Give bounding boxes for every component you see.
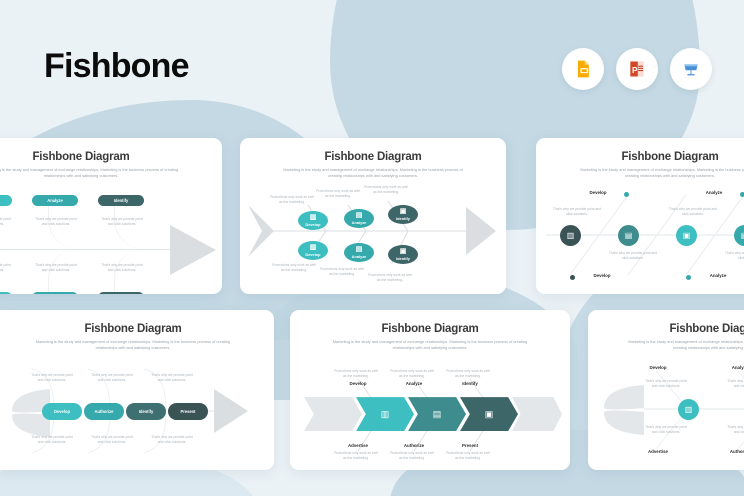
node-note: Promotions only work as well as the mark… (364, 185, 408, 195)
presentation-icon: ▣ (485, 409, 494, 420)
node-label: Analyze (47, 198, 62, 203)
node-label: Analyze (694, 273, 742, 278)
node-ellipse[interactable]: ▥ Develop (298, 211, 328, 230)
node-circle[interactable]: ▥ (678, 399, 699, 420)
fish-head-arrow (168, 223, 218, 277)
node-label: Identify (114, 198, 129, 203)
node-ellipse[interactable]: ▥ Develop (298, 241, 328, 260)
node-note: Promotions only work as well as the mark… (390, 369, 434, 379)
node-note: That's why we provide point and click so… (34, 217, 78, 227)
node-label: Identify (446, 381, 494, 386)
slide-title: Fishbone Diagram (588, 323, 744, 335)
presentation-icon: ▣ (683, 231, 691, 240)
node-note: Promotions only work as well as the mark… (272, 263, 316, 273)
google-slides-icon[interactable] (562, 48, 604, 90)
slide-title: Fishbone Diagram (0, 151, 222, 163)
presentation-icon: ▣ (400, 248, 407, 255)
node-note: Promotions only work as well as the mark… (334, 369, 378, 379)
bar-chart-icon: ▥ (310, 244, 317, 251)
node-ellipse[interactable]: ▣ Identify (388, 205, 418, 224)
node-label: Develop (634, 365, 682, 370)
bar-chart-icon: ▥ (381, 409, 390, 420)
node-pill[interactable]: Develop (42, 403, 82, 420)
node-pill[interactable]: Present (168, 403, 208, 420)
slide-card-1[interactable]: Fishbone Diagram Marketing is the study … (0, 138, 222, 294)
node-pill[interactable]: Identify (98, 195, 144, 206)
node-note: Promotions only work as well as the mark… (390, 451, 434, 461)
document-icon: ▤ (356, 212, 363, 219)
presentation-icon: ▣ (400, 208, 407, 215)
node-note: That's why we provide point and click so… (0, 217, 12, 227)
slide-subtitle: Marketing is the study and management of… (31, 339, 234, 351)
slide-title: Fishbone Diagram (0, 323, 274, 335)
node-ellipse[interactable]: ▣ Identify (388, 245, 418, 264)
slide-card-3[interactable]: Fishbone Diagram Marketing is the study … (536, 138, 744, 294)
node-note: Promotions only work as well as the mark… (368, 273, 412, 283)
node-circle[interactable]: ▣ (676, 225, 697, 246)
page-title: Fishbone (44, 47, 189, 86)
node-note: That's why we provide point and click so… (726, 425, 744, 435)
node-label: Authorize (95, 409, 114, 414)
svg-text:P: P (632, 65, 638, 75)
node-note: That's why we provide point and click so… (100, 217, 144, 227)
node-note: Promotions only work as well as the mark… (320, 267, 364, 277)
node-note: That's why we provide point and click so… (644, 425, 688, 435)
page-header: Fishbone P (0, 0, 744, 130)
bar-chart-icon: ▥ (685, 405, 693, 414)
bar-chart-icon: ▥ (567, 231, 575, 240)
node-ellipse[interactable]: ▤ Analyze (344, 209, 374, 228)
node-note: Promotions only work as well as the mark… (334, 451, 378, 461)
node-label: Develop (574, 190, 622, 195)
node-pill[interactable]: Analyze (32, 195, 78, 206)
node-label: Analyze (352, 254, 367, 259)
node-label: Present (180, 409, 195, 414)
node-note: That's why we provide point and click so… (90, 435, 134, 445)
node-note: That's why we provide point and click so… (726, 379, 744, 389)
node-label: Advertise (334, 443, 382, 448)
node-label: Advertise (634, 449, 682, 454)
node-ellipse[interactable]: ▤ Analyze (344, 243, 374, 262)
slide-title: Fishbone Diagram (290, 323, 570, 335)
node-note: That's why we provide point and click so… (30, 373, 74, 383)
node-note: That's why we provide point and click so… (606, 251, 660, 261)
slide-subtitle: Marketing is the study and management of… (329, 339, 531, 351)
document-icon: ▤ (625, 231, 633, 240)
node-pill[interactable]: Authorize (84, 403, 124, 420)
slide-subtitle: Marketing is the study and management of… (277, 167, 469, 179)
node-circle[interactable]: ▥ (560, 225, 581, 246)
node-label: Develop (305, 252, 320, 257)
node-note: That's why we provide point and click so… (150, 435, 194, 445)
node-label: Identify (396, 256, 410, 261)
document-icon: ▤ (356, 246, 363, 253)
node-note: That's why we provide point and click so… (550, 207, 604, 217)
node-pill[interactable]: Develop (0, 195, 12, 206)
node-note: That's why we provide point and click so… (644, 379, 688, 389)
node-note: Promotions only work as well as the mark… (316, 189, 360, 199)
node-note: That's why we provide point and click so… (100, 263, 144, 273)
node-pill[interactable]: Identify (126, 403, 166, 420)
slide-title: Fishbone Diagram (536, 151, 744, 163)
node-label: Identify (396, 216, 410, 221)
node-label: Present (446, 443, 494, 448)
keynote-icon[interactable] (670, 48, 712, 90)
node-note: That's why we provide point and click so… (90, 373, 134, 383)
node-note: That's why we provide point and click so… (722, 251, 744, 261)
spine-line (0, 249, 186, 250)
powerpoint-icon[interactable]: P (616, 48, 658, 90)
slide-subtitle: Marketing is the study and management of… (624, 339, 744, 351)
node-label: Analyze (716, 365, 744, 370)
node-note: That's why we provide point and click so… (150, 373, 194, 383)
slide-title: Fishbone Diagram (240, 151, 506, 163)
format-icon-group: P (562, 48, 712, 90)
node-pill[interactable]: Authorize (32, 292, 78, 294)
slide-card-2[interactable]: Fishbone Diagram Marketing is the study … (240, 138, 506, 294)
node-note: Promotions only work as well as the mark… (446, 451, 490, 461)
node-note: Promotions only work as well as the mark… (446, 369, 490, 379)
node-note: That's why we provide point and click so… (30, 435, 74, 445)
slide-card-6[interactable]: Fishbone Diagram Marketing is the study … (588, 310, 744, 470)
bar-chart-icon: ▥ (310, 214, 317, 221)
slide-subtitle: Marketing is the study and management of… (574, 167, 744, 179)
node-label: Analyze (690, 190, 738, 195)
node-label: Analyze (390, 381, 438, 386)
node-label: Develop (54, 409, 70, 414)
node-note: That's why we provide point and click so… (34, 263, 78, 273)
node-label: Develop (578, 273, 626, 278)
node-label: Authorize (390, 443, 438, 448)
slide-subtitle: Marketing is the study and management of… (0, 167, 183, 179)
node-note: Promotions only work as well as the mark… (270, 195, 314, 205)
node-label: Develop (305, 222, 320, 227)
node-circle[interactable]: ▤ (618, 225, 639, 246)
node-pill[interactable]: Present (98, 292, 144, 294)
node-note: That's why we provide point and click so… (666, 207, 720, 217)
document-icon: ▤ (433, 409, 442, 420)
node-label: Analyze (352, 220, 367, 225)
slide-card-4[interactable]: Fishbone Diagram Marketing is the study … (0, 310, 274, 470)
node-label: Authorize (716, 449, 744, 454)
node-label: Develop (334, 381, 382, 386)
node-label: Identify (139, 409, 154, 414)
marker-dot (740, 192, 744, 197)
node-note: That's why we provide point and click so… (0, 263, 12, 273)
slide-card-5[interactable]: Fishbone Diagram Marketing is the study … (290, 310, 570, 470)
